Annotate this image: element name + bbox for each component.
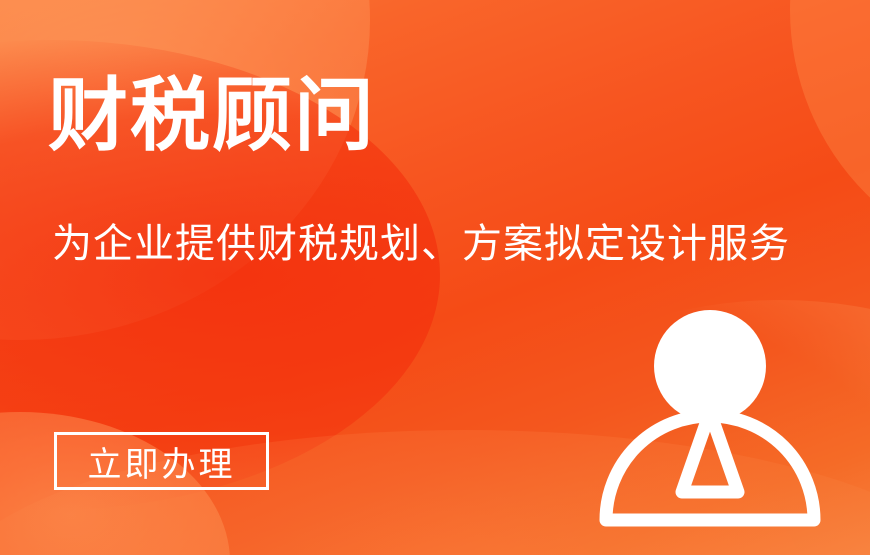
banner-headline: 财税顾问 (48, 76, 376, 156)
advisor-head-shape (654, 310, 766, 422)
banner-content: 财税顾问 为企业提供财税规划、方案拟定设计服务 立即办理 (0, 0, 870, 555)
promo-banner: 财税顾问 为企业提供财税规划、方案拟定设计服务 立即办理 (0, 0, 870, 555)
apply-now-button[interactable]: 立即办理 (54, 432, 269, 490)
banner-subheadline: 为企业提供财税规划、方案拟定设计服务 (52, 222, 790, 266)
advisor-person-icon (592, 300, 832, 535)
